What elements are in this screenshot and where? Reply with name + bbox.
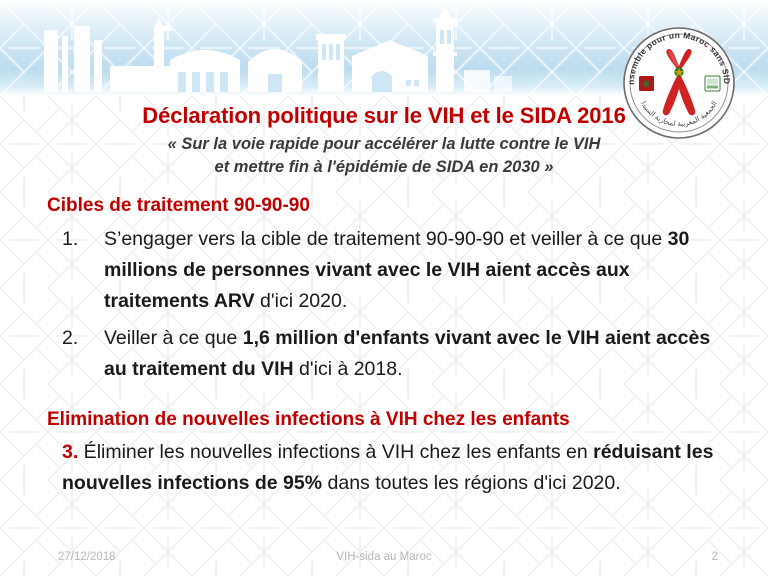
list-item-text: S’engager vers la cible de traitement 90… [104,228,689,312]
list-item: 1. S’engager vers la cible de traitement… [62,224,732,317]
partner-emblem-icon [705,76,720,91]
footer-page-number: 2 [712,551,718,563]
slide-body: Cibles de traitement 90-90-90 1. S’engag… [0,193,768,499]
list-item-marker: 1. [62,224,78,255]
list-item: 2. Veiller à ce que 1,6 million d'enfant… [62,323,732,385]
list-item: 3. Éliminer les nouvelles infections à V… [62,437,732,499]
subtitle-line-2: et mettre fin à l'épidémie de SIDA en 20… [0,156,768,179]
slide-canvas: Ensemble pour un Maroc sans SIDA الجمعية… [0,0,768,576]
list-item-text: Veiller à ce que 1,6 million d'enfants v… [104,327,710,380]
ensemble-pour-un-maroc-sans-sida-logo: Ensemble pour un Maroc sans SIDA الجمعية… [620,24,738,142]
list-item-marker: 3. [62,441,78,463]
section-heading-treatment-targets: Cibles de traitement 90-90-90 [47,193,768,218]
list-item-text: Éliminer les nouvelles infections à VIH … [62,441,713,494]
list-item-marker: 2. [62,323,78,354]
slide-footer: 27/12/2018 VIH-sida au Maroc 2 [0,549,768,571]
morocco-emblem-icon [639,76,654,91]
footer-title: VIH-sida au Maroc [0,551,768,563]
section-heading-elimination: Elimination de nouvelles infections à VI… [47,407,768,432]
